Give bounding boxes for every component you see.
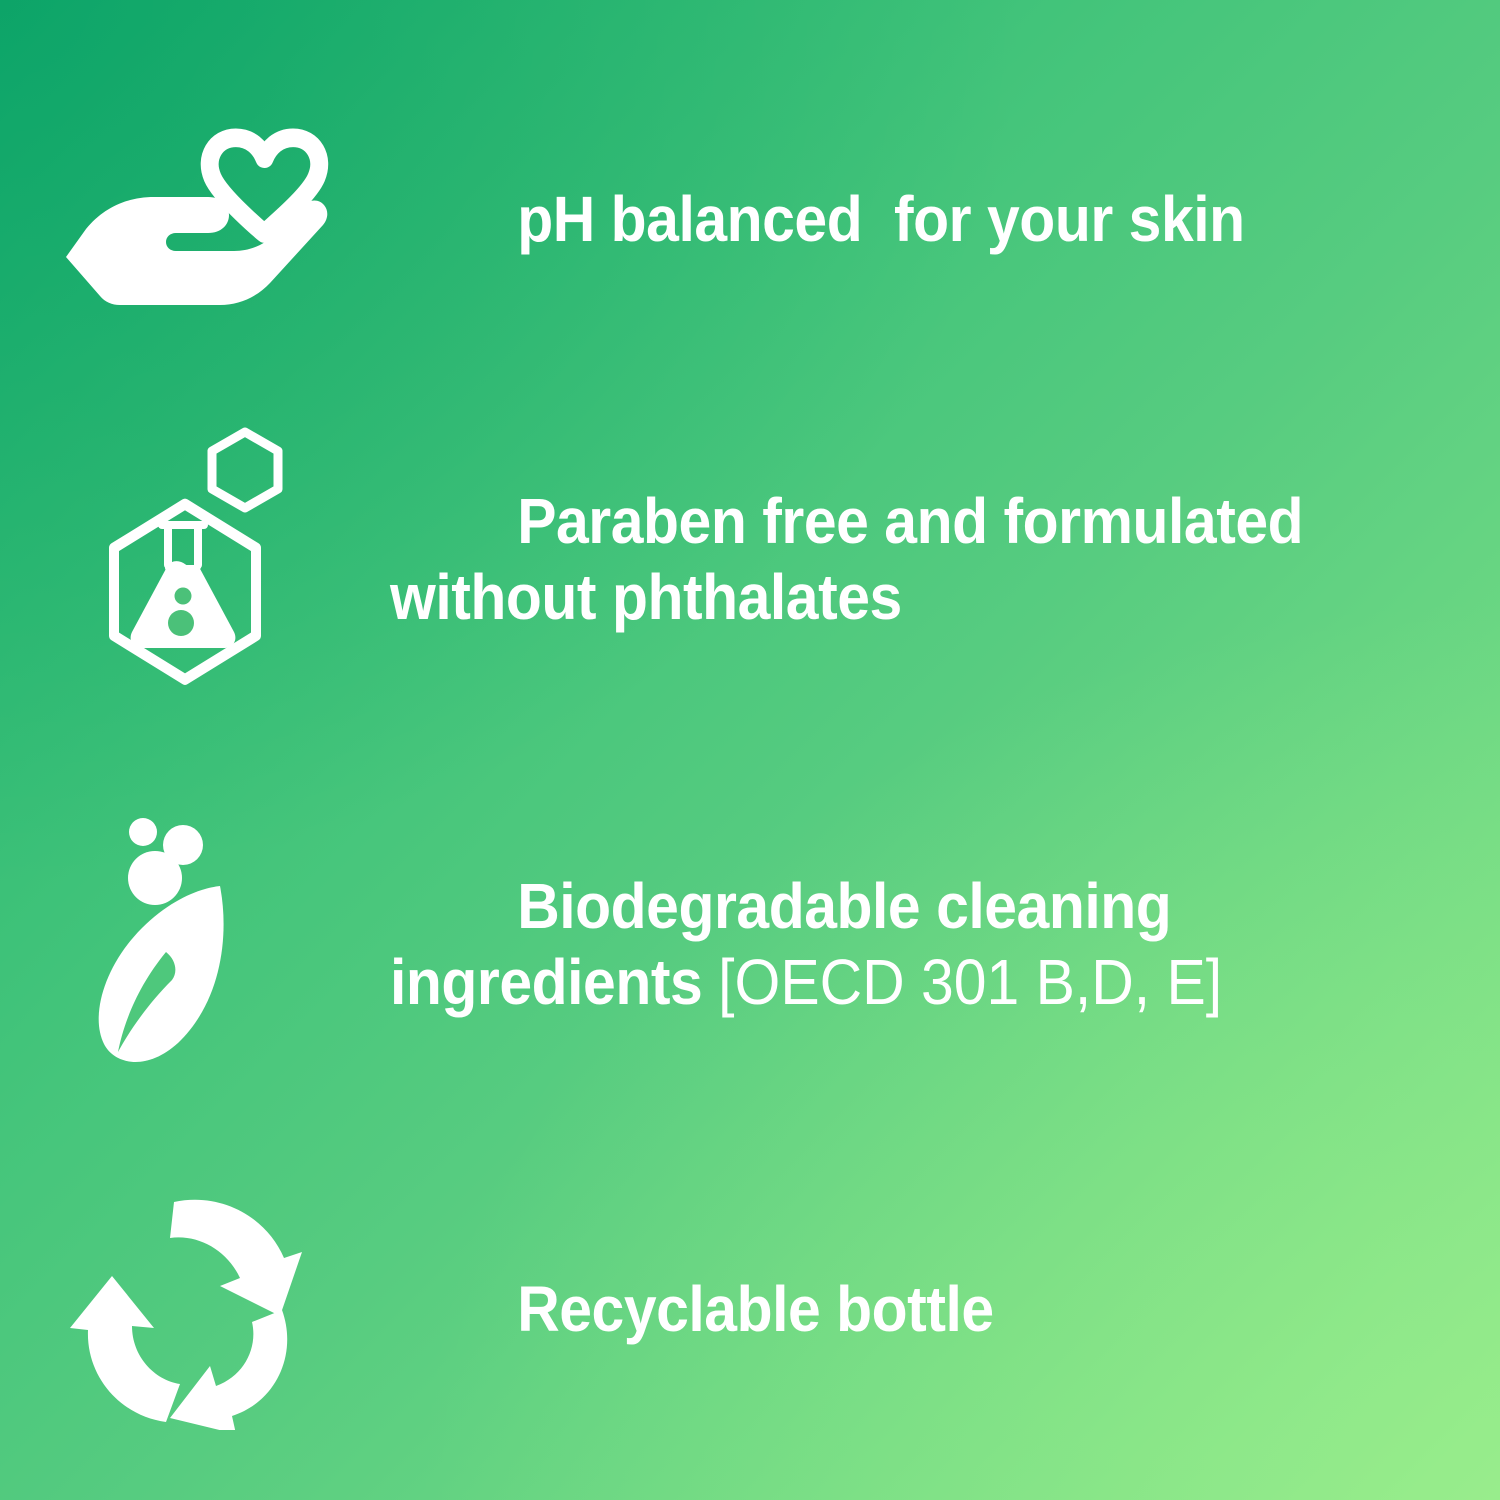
benefits-list: pH balanced for your skin <box>0 0 1500 1500</box>
benefit-label-biodegradable: Biodegradable cleaning ingredients [OECD… <box>390 794 1374 1096</box>
text-cell-ph-balanced: pH balanced for your skin <box>390 107 1500 334</box>
benefit-row-ph-balanced: pH balanced for your skin <box>0 90 1500 350</box>
icon-cell-recyclable-bottle <box>0 1190 390 1430</box>
benefit-row-paraben-free: Paraben free and formulated without phth… <box>0 420 1500 700</box>
benefit-row-recyclable-bottle: Recyclable bottle <box>0 1175 1500 1445</box>
benefit-note-text: [OECD 301 B,D, E] <box>718 946 1222 1018</box>
icon-cell-biodegradable <box>0 808 390 1083</box>
leaf-bubbles-icon <box>80 808 310 1083</box>
benefit-main-text: Paraben free and formulated without phth… <box>390 485 1303 633</box>
text-cell-paraben-free: Paraben free and formulated without phth… <box>390 409 1500 711</box>
icon-cell-paraben-free <box>0 420 390 700</box>
hand-holding-heart-icon <box>58 125 333 315</box>
benefit-main-text: pH balanced for your skin <box>517 183 1244 255</box>
benefit-label-ph-balanced: pH balanced for your skin <box>390 107 1374 334</box>
icon-cell-ph-balanced <box>0 125 390 315</box>
benefit-label-recyclable-bottle: Recyclable bottle <box>390 1197 1374 1424</box>
text-cell-recyclable-bottle: Recyclable bottle <box>390 1197 1500 1424</box>
recycle-arrows-icon <box>70 1190 320 1430</box>
benefit-label-paraben-free: Paraben free and formulated without phth… <box>390 409 1374 711</box>
benefit-row-biodegradable: Biodegradable cleaning ingredients [OECD… <box>0 800 1500 1090</box>
text-cell-biodegradable: Biodegradable cleaning ingredients [OECD… <box>390 794 1500 1096</box>
flask-hexagon-icon <box>88 420 303 700</box>
benefit-main-text: Recyclable bottle <box>517 1273 993 1345</box>
